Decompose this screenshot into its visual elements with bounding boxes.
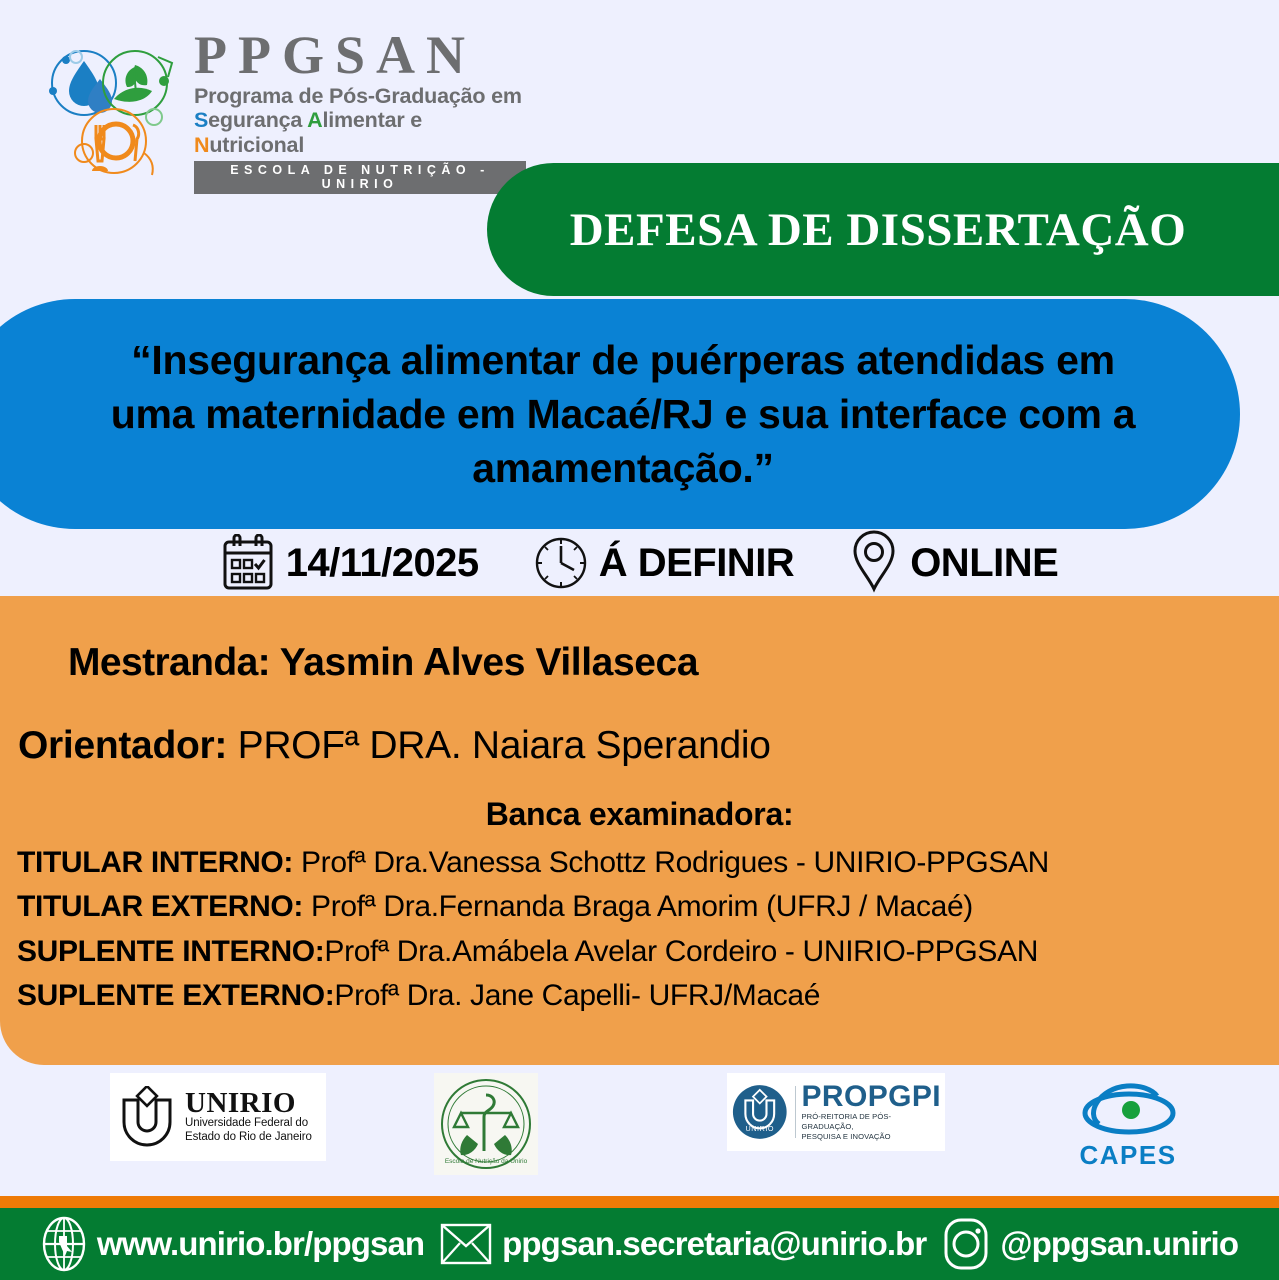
propgpi-logo-text: PROPGPI PRÓ-REITORIA DE PÓS-GRADUAÇÃO, P… (802, 1082, 942, 1142)
ppgsan-logo: PPGSAN Programa de Pós-Graduação em Segu… (36, 38, 526, 183)
propgpi-logo: UNIRIO PROPGPI PRÓ-REITORIA DE PÓS-GRADU… (727, 1073, 945, 1151)
footer-contact-bar: www.unirio.br/ppgsan ppgsan.secretaria@u… (0, 1208, 1279, 1280)
unirio-logo-text: UNIRIO Universidade Federal do Estado do… (185, 1090, 312, 1145)
capes-mark-icon (1073, 1080, 1183, 1142)
banca-row: SUPLENTE INTERNO:Profª Dra.Amábela Avela… (17, 930, 1262, 974)
footer-accent-strip (0, 1196, 1279, 1208)
logo-a: A (307, 108, 322, 132)
banca-name: Profª Dra. Jane Capelli- UFRJ/Macaé (334, 979, 820, 1012)
unirio-subtitle-1: Universidade Federal do (185, 1117, 312, 1131)
orientador-label: Orientador: (18, 724, 227, 767)
event-location-text: ONLINE (910, 541, 1058, 586)
banca-name: Profª Dra.Vanessa Schottz Rodrigues - UN… (293, 846, 1049, 879)
calendar-icon (221, 534, 275, 592)
unirio-wordmark: UNIRIO (185, 1090, 312, 1118)
logo-subject-line: Segurança Alimentar e Nutricional (194, 108, 526, 157)
poster-root: PPGSAN Programa de Pós-Graduação em Segu… (0, 0, 1279, 1280)
banca-row: TITULAR EXTERNO: Profª Dra.Fernanda Brag… (17, 885, 1262, 929)
logo-alimentar: limentar e (322, 108, 422, 132)
footer-email-text: ppgsan.secretaria@unirio.br (502, 1225, 926, 1263)
footer-email[interactable]: ppgsan.secretaria@unirio.br (440, 1221, 926, 1267)
propgpi-subtitle-2: PESQUISA E INOVAÇÃO (802, 1132, 942, 1142)
capes-logo: CAPES (1068, 1073, 1188, 1177)
logo-program-line: Programa de Pós-Graduação em (194, 84, 526, 109)
event-info-row: 14/11/2025 Á DEFINIR (0, 530, 1279, 596)
banca-role: TITULAR INTERNO: (17, 846, 293, 879)
logo-n: N (194, 133, 209, 157)
thesis-title-panel: “Insegurança alimentar de puérperas aten… (0, 299, 1240, 529)
map-pin-icon (849, 529, 899, 597)
defense-banner: DEFESA DE DISSERTAÇÃO (487, 163, 1279, 296)
banca-title: Banca examinadora: (0, 796, 1279, 833)
propgpi-divider (795, 1086, 796, 1138)
capes-wordmark: CAPES (1079, 1140, 1176, 1171)
banca-name: Profª Dra.Fernanda Braga Amorim (UFRJ / … (303, 890, 973, 923)
mestranda-row: Mestranda: Yasmin Alves Villaseca (68, 641, 698, 685)
defense-banner-label: DEFESA DE DISSERTAÇÃO (570, 203, 1187, 257)
instagram-icon (942, 1215, 990, 1273)
footer-instagram-text: @ppgsan.unirio (1000, 1225, 1238, 1263)
escola-nutricao-logo: Escola de Nutrição da Unirio (434, 1073, 538, 1175)
orientador-name: PROFª DRA. Naiara Sperandio (238, 724, 771, 767)
logo-s: S (194, 108, 208, 132)
thesis-title: “Insegurança alimentar de puérperas aten… (98, 333, 1148, 495)
orientador-row: Orientador: PROFª DRA. Naiara Sperandio (18, 724, 771, 768)
ppgsan-logo-text: PPGSAN Programa de Pós-Graduação em Segu… (194, 27, 526, 194)
banca-name: Profª Dra.Amábela Avelar Cordeiro - UNIR… (324, 935, 1038, 968)
ppgsan-logo-mark (36, 41, 186, 181)
banca-role: SUPLENTE INTERNO: (17, 935, 324, 968)
details-panel: Mestranda: Yasmin Alves Villaseca Orient… (0, 596, 1279, 1065)
banca-list: TITULAR INTERNO: Profª Dra.Vanessa Schot… (17, 841, 1262, 1019)
banca-row: TITULAR INTERNO: Profª Dra.Vanessa Schot… (17, 841, 1262, 885)
banca-role: SUPLENTE EXTERNO: (17, 979, 334, 1012)
unirio-mark-icon (116, 1086, 178, 1148)
event-time-text: Á DEFINIR (599, 541, 795, 586)
footer-website[interactable]: www.unirio.br/ppgsan (41, 1216, 424, 1272)
propgpi-subtitle-1: PRÓ-REITORIA DE PÓS-GRADUAÇÃO, (802, 1112, 942, 1132)
mestranda-name: Yasmin Alves Villaseca (280, 641, 698, 684)
banca-role: TITULAR EXTERNO: (17, 890, 303, 923)
logo-nutricional: utricional (209, 133, 304, 157)
event-date-text: 14/11/2025 (286, 541, 479, 586)
logo-acronym: PPGSAN (194, 27, 526, 84)
footer-website-text: www.unirio.br/ppgsan (97, 1225, 424, 1263)
event-time: Á DEFINIR (534, 535, 795, 591)
envelope-icon (440, 1221, 492, 1267)
footer-instagram[interactable]: @ppgsan.unirio (942, 1215, 1238, 1273)
mestranda-label: Mestranda: (68, 641, 270, 684)
clock-icon (534, 535, 588, 591)
unirio-logo: UNIRIO Universidade Federal do Estado do… (110, 1073, 326, 1161)
event-location: ONLINE (849, 529, 1058, 597)
propgpi-badge-label: UNIRIO (745, 1124, 774, 1133)
unirio-subtitle-2: Estado do Rio de Janeiro (185, 1131, 312, 1145)
banca-row: SUPLENTE EXTERNO:Profª Dra. Jane Capelli… (17, 974, 1262, 1018)
sponsor-logos: UNIRIO Universidade Federal do Estado do… (0, 1073, 1279, 1188)
logo-seguranca: egurança (208, 108, 307, 132)
globe-icon (41, 1216, 87, 1272)
escola-nutricao-seal-icon: Escola de Nutrição da Unirio (439, 1077, 533, 1171)
unirio-badge-icon: UNIRIO (731, 1082, 789, 1142)
propgpi-wordmark: PROPGPI (802, 1082, 942, 1112)
escola-nutricao-label: Escola de Nutrição da Unirio (445, 1158, 528, 1165)
event-date: 14/11/2025 (221, 534, 479, 592)
logo-school-strip: ESCOLA DE NUTRIÇÃO - UNIRIO (194, 161, 526, 194)
